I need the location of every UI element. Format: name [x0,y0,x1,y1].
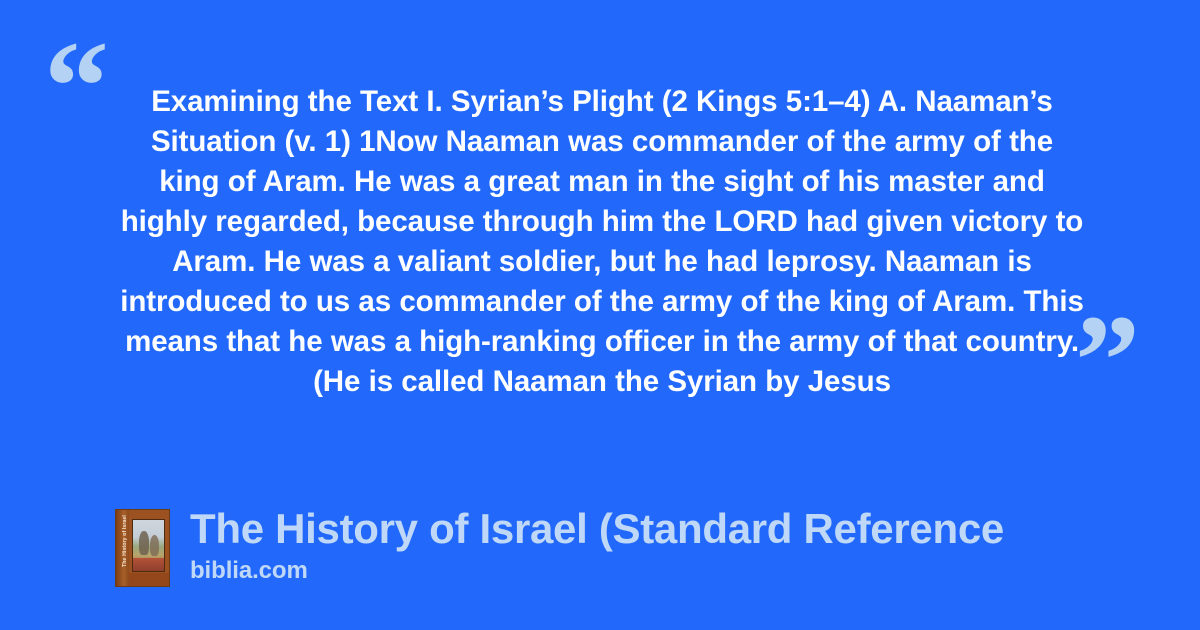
book-title: The History of Israel (Standard Referenc… [190,505,1004,553]
open-quote-icon: “ [44,22,107,152]
quote-text: Examining the Text I. Syrian’s Plight (2… [118,82,1086,402]
quote-card: “ Examining the Text I. Syrian’s Plight … [0,0,1200,630]
book-cover-icon: The History of Israel [115,509,170,587]
attribution-text-block: The History of Israel (Standard Referenc… [190,505,1004,586]
close-quote-icon: ” [1075,296,1138,426]
book-cover-artwork-foreground [133,558,164,571]
book-spine-title: The History of Israel [122,510,128,572]
book-bottom-band [129,573,169,586]
book-cover-artwork [132,519,165,572]
source-domain: biblia.com [190,556,1004,586]
attribution-footer: The History of Israel The History of Isr… [115,505,1004,587]
book-spine: The History of Israel [116,510,129,586]
